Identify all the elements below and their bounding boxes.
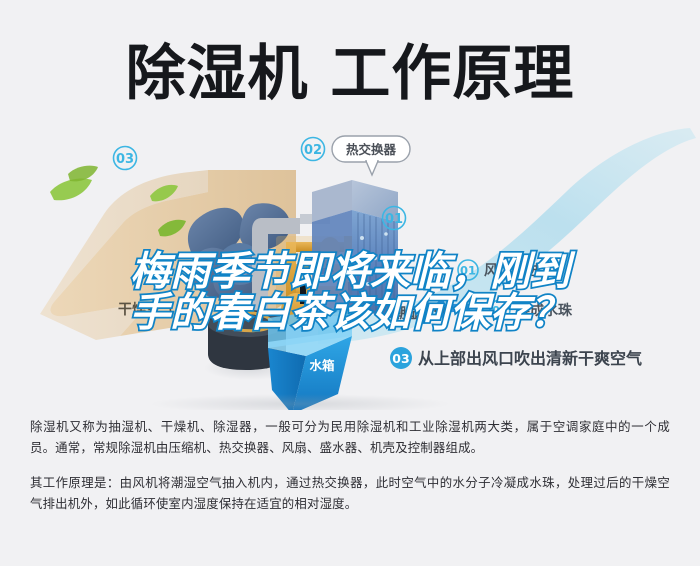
- callout-02-text: 凝成水珠: [516, 302, 573, 319]
- step-02-label: 热交换器: [346, 142, 397, 157]
- callout-01: 01 风口吸进: [458, 260, 540, 280]
- water-tank-label: 水箱: [309, 358, 335, 373]
- page-title: 除湿机 工作原理: [0, 38, 700, 118]
- body-copy: 除湿机又称为抽湿机、干燥机、除湿器，一般可分为民用除湿机和工业除湿机两大类，属于…: [0, 416, 700, 514]
- callout-03: 03 从上部出风口吹出清新干爽空气: [390, 347, 642, 369]
- page-title-text: 除湿机 工作原理: [0, 38, 700, 110]
- callout-03-badge: 03: [392, 351, 409, 366]
- dehumidifier-diagram: 03 干燥空气 02 热交换器 01 潮湿空气 水箱: [0, 118, 700, 410]
- callout-01-badge: 01: [460, 264, 476, 278]
- step-02-badge: 02: [304, 143, 322, 158]
- page-root: 除湿机 工作原理: [0, 0, 700, 566]
- callout-03-text: 从上部出风口吹出清新干爽空气: [418, 349, 642, 368]
- body-paragraph-1: 除湿机又称为抽湿机、干燥机、除湿器，一般可分为民用除湿机和工业除湿机两大类，属于…: [30, 416, 670, 458]
- floor-shadow-shape: [150, 394, 450, 410]
- callout-02: 02 凝成水珠: [490, 300, 573, 320]
- step-03-label: 干燥空气: [118, 301, 174, 318]
- step-01-badge: 01: [385, 212, 403, 227]
- callout-02-badge: 02: [492, 304, 508, 318]
- heat-exchanger-shape: [312, 180, 398, 320]
- callout-01-text: 风口吸进: [484, 263, 540, 279]
- step-01-label: 潮湿空气: [392, 305, 448, 322]
- body-paragraph-2: 其工作原理是：由风机将潮湿空气抽入机内，通过热交换器，此时空气中的水分子冷凝成水…: [30, 472, 670, 514]
- step-02-heat-exchanger: 02 热交换器: [302, 136, 411, 175]
- step-03-badge: 03: [116, 152, 134, 167]
